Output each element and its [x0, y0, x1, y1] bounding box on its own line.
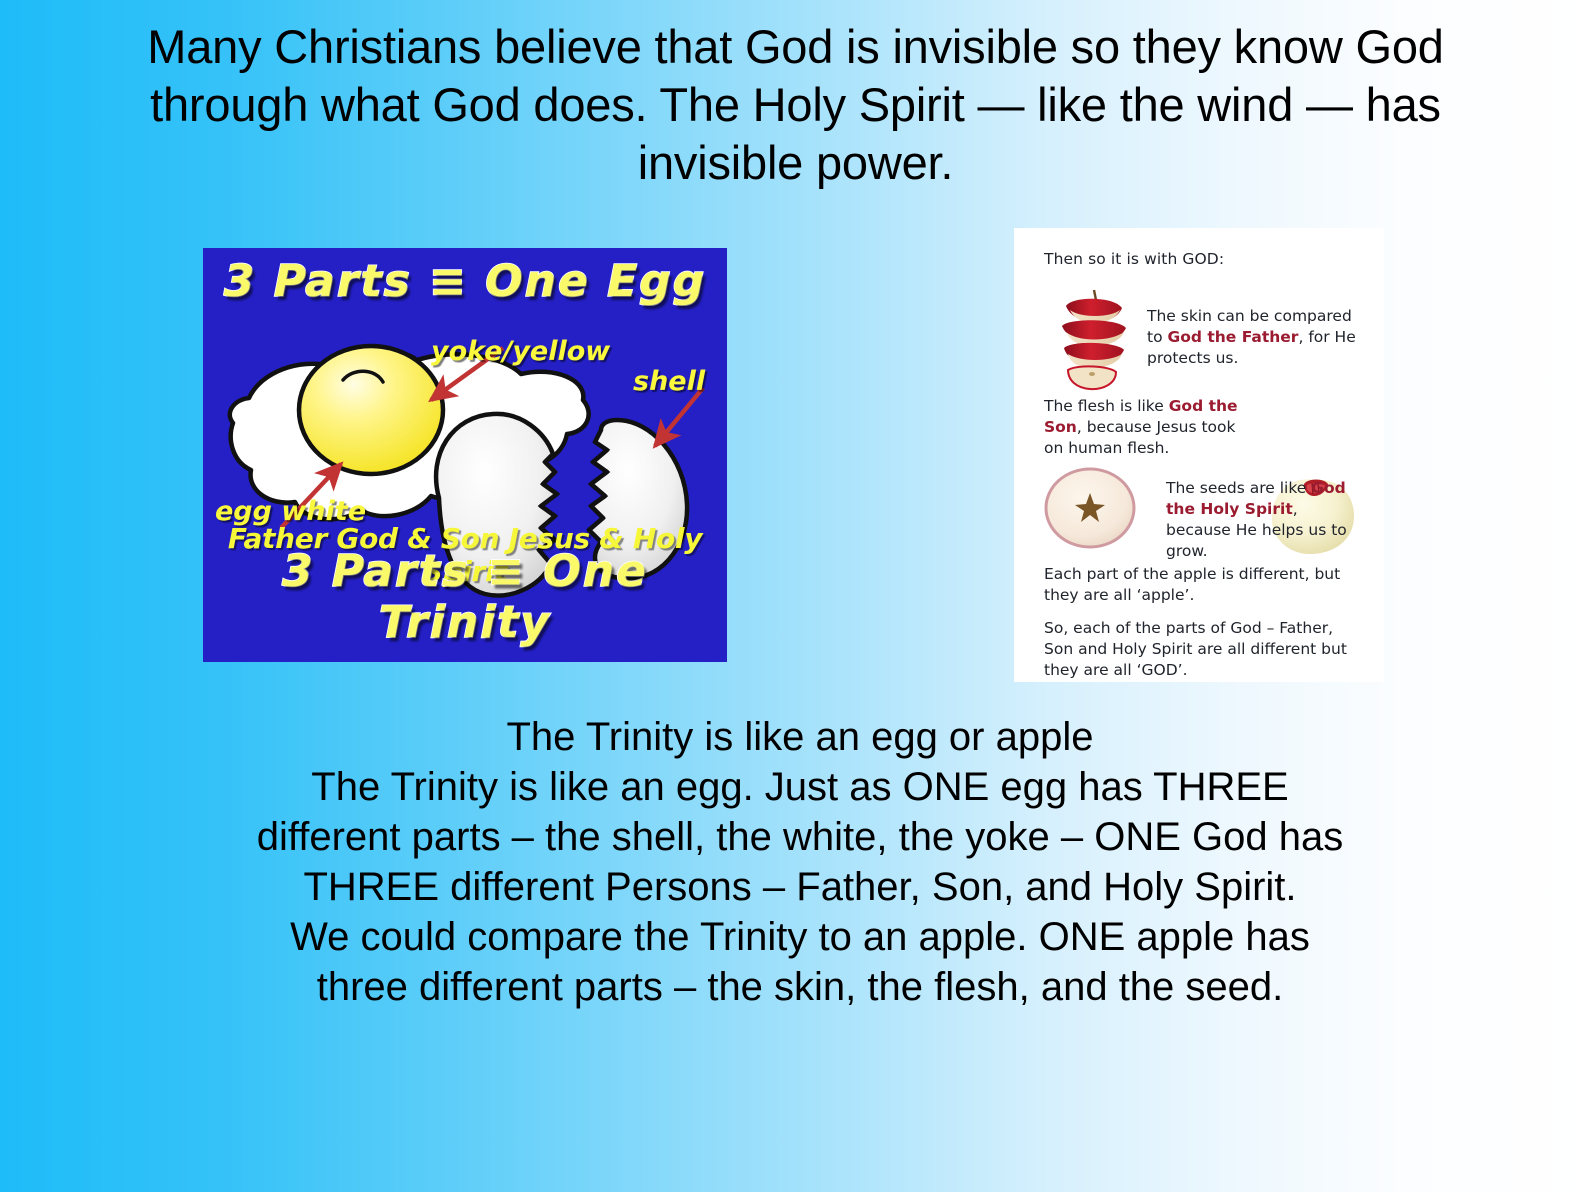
egg-trinity-illustration: 3 Parts ≡ One Egg yoke/yellow shell egg … [203, 248, 727, 662]
body-line: The Trinity is like an egg. Just as ONE … [180, 762, 1420, 812]
apple-point-flesh: The flesh is like God the Son, because J… [1044, 396, 1256, 459]
body-text-block: The Trinity is like an egg or apple The … [180, 712, 1420, 1012]
apple-cross-section-slice-icon [1036, 458, 1144, 558]
apple-trinity-illustration: Then so it is with GOD: [1014, 228, 1384, 682]
body-line: three different parts – the skin, the fl… [180, 962, 1420, 1012]
apple-point-flesh-pre: The flesh is like [1044, 397, 1169, 415]
apple-heading: Then so it is with GOD: [1044, 250, 1224, 268]
egg-label-shell: shell [633, 366, 705, 397]
apple-point-skin-bold: God the Father [1168, 328, 1299, 346]
peeled-apple-spiral-icon [1048, 288, 1140, 392]
body-line: different parts – the shell, the white, … [180, 812, 1420, 862]
slide-canvas: Many Christians believe that God is invi… [0, 0, 1589, 1192]
apple-point-skin: The skin can be compared to God the Fath… [1147, 306, 1363, 369]
apple-summary-one: Each part of the apple is different, but… [1044, 564, 1366, 606]
egg-title: 3 Parts ≡ One Egg [203, 256, 727, 307]
egg-label-yoke: yoke/yellow [431, 336, 610, 367]
body-line: The Trinity is like an egg or apple [180, 712, 1420, 762]
body-line: THREE different Persons – Father, Son, a… [180, 862, 1420, 912]
apple-point-seeds: The seeds are like God the Holy Spirit, … [1166, 478, 1364, 562]
page-title: Many Christians believe that God is invi… [118, 18, 1473, 192]
body-line: We could compare the Trinity to an apple… [180, 912, 1420, 962]
apple-point-seeds-pre: The seeds are like [1166, 479, 1311, 497]
egg-caption-trinity: 3 Parts ≡ One Trinity [203, 546, 727, 648]
apple-summary-two: So, each of the parts of God – Father, S… [1044, 618, 1366, 681]
